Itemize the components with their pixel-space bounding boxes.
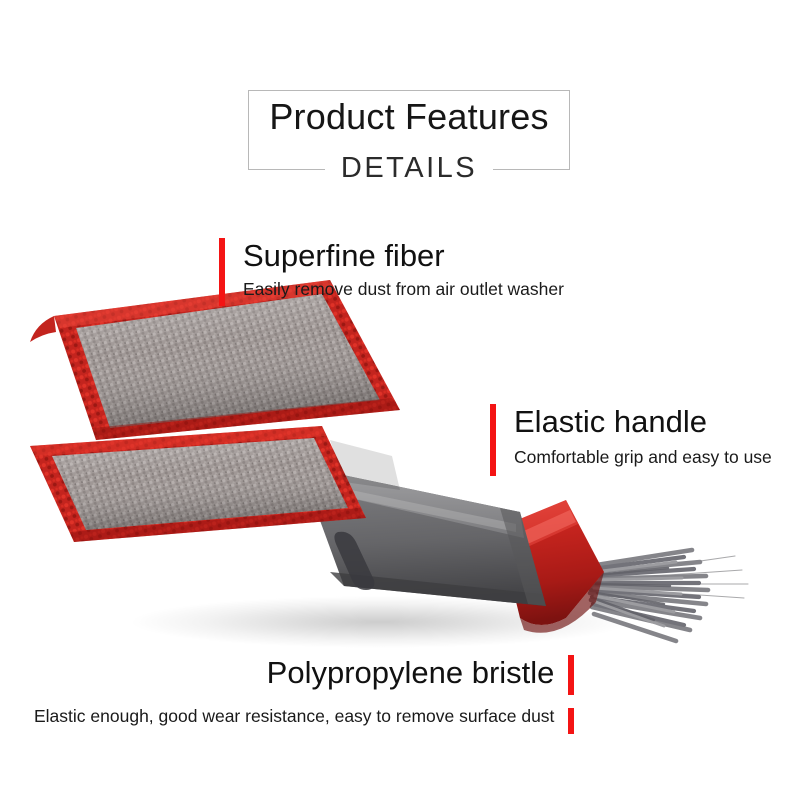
feature-title: Elastic handle	[496, 404, 772, 437]
feature-title: Polypropylene bristle	[267, 655, 569, 695]
feature-polypropylene-bristle: Polypropylene bristle Elastic enough, go…	[34, 655, 574, 734]
page-title: Product Features	[248, 96, 570, 138]
accent-bar-icon	[568, 708, 574, 734]
feature-subtitle-row: Elastic enough, good wear resistance, ea…	[34, 708, 574, 734]
feature-subtitle: Easily remove dust from air outlet washe…	[225, 271, 564, 299]
feature-elastic-handle: Elastic handle Comfortable grip and easy…	[490, 404, 772, 476]
microfiber-pad-lower	[30, 426, 366, 542]
feature-subtitle: Elastic enough, good wear resistance, ea…	[34, 708, 568, 734]
feature-title-row: Superfine fiber Easily remove dust from …	[219, 238, 564, 306]
feature-title: Superfine fiber	[225, 238, 564, 271]
feature-title-row: Elastic handle Comfortable grip and easy…	[490, 404, 772, 476]
accent-bar-icon	[568, 655, 574, 695]
page-subtitle: DETAILS	[325, 152, 493, 185]
details-line-wrap: DETAILS	[248, 152, 570, 185]
feature-subtitle: Comfortable grip and easy to use	[496, 437, 772, 467]
feature-superfine-fiber: Superfine fiber Easily remove dust from …	[219, 238, 564, 306]
product-features-infographic: Product Features DETAILS Superfine fiber…	[0, 0, 800, 800]
feature-title-row: Polypropylene bristle	[34, 655, 574, 695]
